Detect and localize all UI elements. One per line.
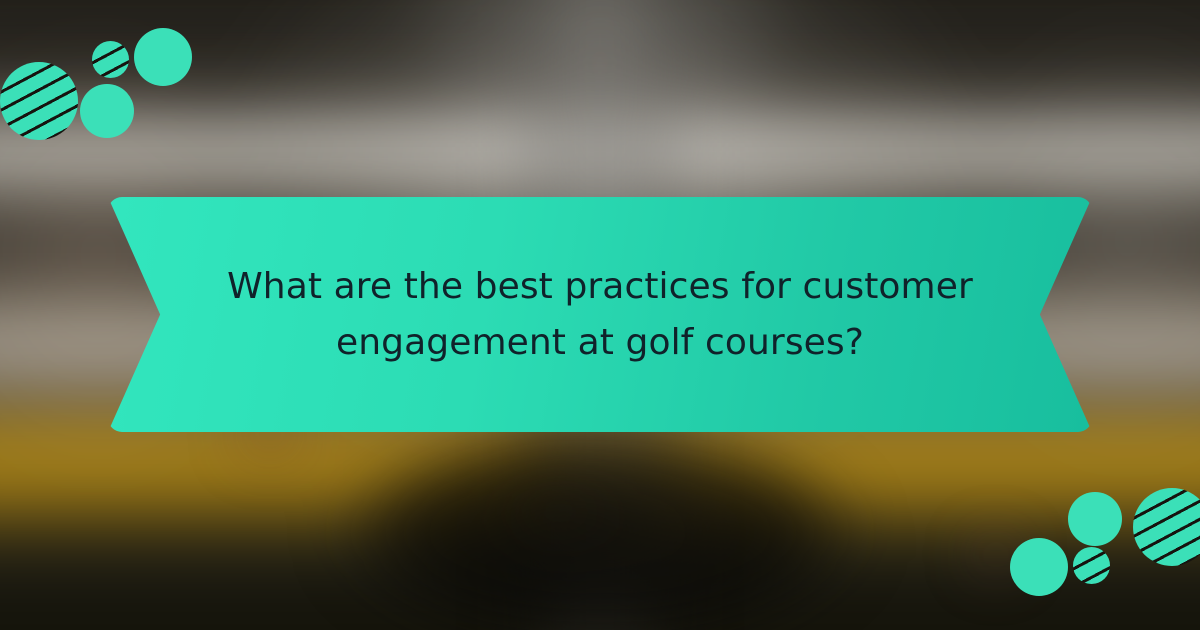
striped-circle-small-icon xyxy=(92,41,129,78)
plain-circle-large-icon xyxy=(1010,538,1068,596)
plain-circle-medium-icon xyxy=(80,84,134,138)
striped-circle-large-icon xyxy=(0,62,78,140)
plain-circle-medium-icon xyxy=(1068,492,1122,546)
striped-circle-small-icon xyxy=(1073,547,1110,584)
striped-circle-large-icon xyxy=(1133,488,1200,566)
question-card-canvas: What are the best practices for customer… xyxy=(0,0,1200,630)
plain-circle-large-icon xyxy=(134,28,192,86)
question-text: What are the best practices for customer… xyxy=(220,259,980,371)
question-banner: What are the best practices for customer… xyxy=(108,197,1092,432)
